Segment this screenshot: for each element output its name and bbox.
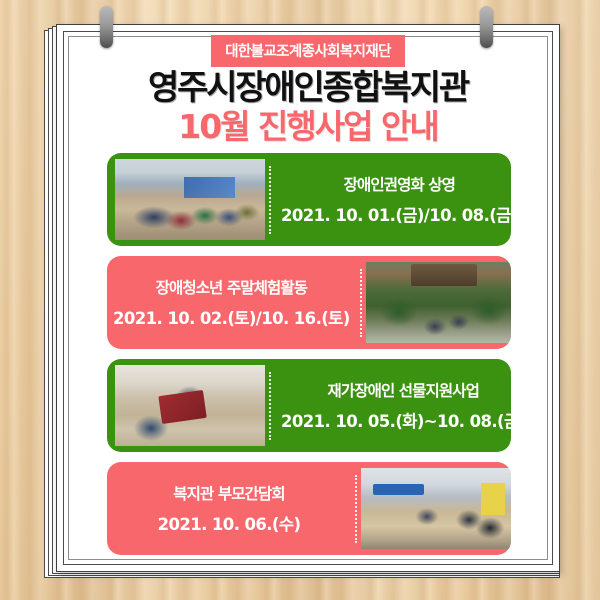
program-title: 장애인권영화 상영 (344, 173, 455, 195)
list-item[interactable]: 재가장애인 선물지원사업 2021. 10. 05.(화)~10. 08.(금) (107, 359, 511, 452)
program-date: 2021. 10. 01.(금)/10. 08.(금) (281, 202, 511, 226)
home-visit-gift-delivery-photo (115, 365, 265, 446)
list-item[interactable]: 장애청소년 주말체험활동 2021. 10. 02.(토)/10. 16.(토) (107, 256, 511, 349)
pin-icon-right (480, 6, 493, 48)
program-title: 복지관 부모간담회 (173, 482, 284, 504)
pin-icon-left (100, 6, 113, 48)
dotted-divider (356, 256, 366, 349)
poster-paper: 대한불교조계종사회복지재단 영주시장애인종합복지관 10월 진행사업 안내 장애… (56, 24, 560, 572)
organization-banner: 대한불교조계종사회복지재단 (211, 35, 405, 67)
program-date: 2021. 10. 02.(토)/10. 16.(토) (113, 305, 350, 329)
meeting-room-parents-session-photo (361, 468, 511, 549)
program-list: 장애인권영화 상영 2021. 10. 01.(금)/10. 08.(금) 장애… (107, 153, 511, 565)
program-text: 장애청소년 주말체험활동 2021. 10. 02.(토)/10. 16.(토) (107, 256, 356, 349)
classroom-movie-screening-photo (115, 159, 265, 240)
dotted-divider (265, 359, 275, 452)
temple-outdoor-activity-photo (366, 262, 511, 343)
page-title: 영주시장애인종합복지관 (57, 71, 559, 107)
program-title: 장애청소년 주말체험활동 (156, 276, 307, 298)
program-text: 복지관 부모간담회 2021. 10. 06.(수) (107, 462, 351, 555)
list-item[interactable]: 장애인권영화 상영 2021. 10. 01.(금)/10. 08.(금) (107, 153, 511, 246)
program-date: 2021. 10. 06.(수) (158, 511, 301, 535)
program-text: 장애인권영화 상영 2021. 10. 01.(금)/10. 08.(금) (275, 153, 511, 246)
dotted-divider (265, 153, 275, 246)
list-item[interactable]: 복지관 부모간담회 2021. 10. 06.(수) (107, 462, 511, 555)
page-subtitle: 10월 진행사업 안내 (57, 109, 559, 145)
program-text: 재가장애인 선물지원사업 2021. 10. 05.(화)~10. 08.(금) (275, 359, 511, 452)
program-date: 2021. 10. 05.(화)~10. 08.(금) (281, 408, 511, 432)
program-title: 재가장애인 선물지원사업 (328, 379, 479, 401)
dotted-divider (351, 462, 361, 555)
